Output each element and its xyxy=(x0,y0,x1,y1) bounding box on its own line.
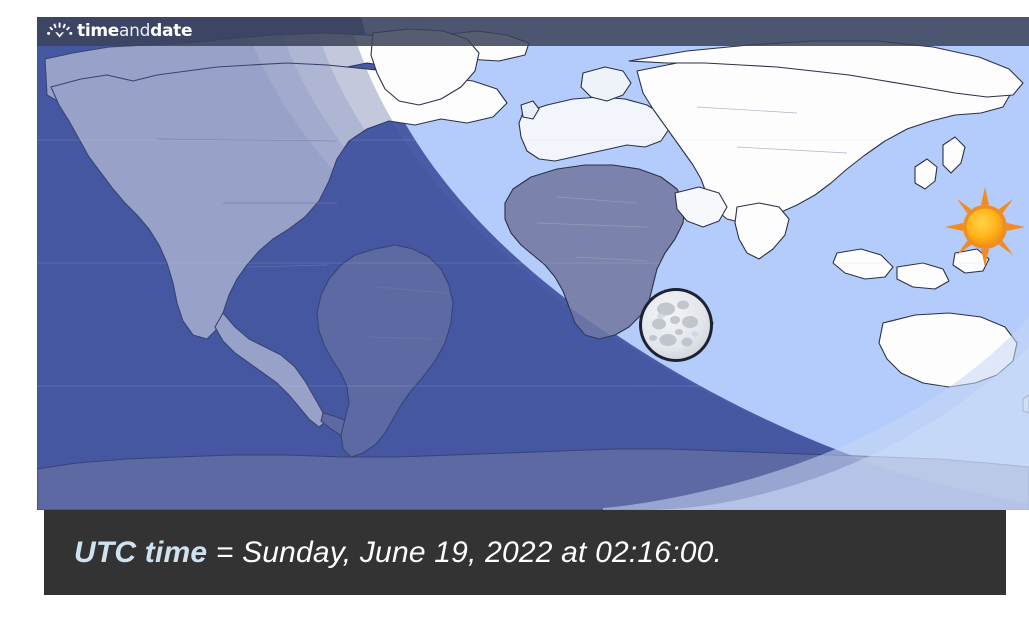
utc-time-value: = Sunday, June 19, 2022 at 02:16:00. xyxy=(207,536,722,569)
logo-text-date: date xyxy=(150,21,192,41)
world-map[interactable]: timeanddate xyxy=(37,17,1029,510)
logo-text-and: and xyxy=(119,21,150,41)
logo-bar: timeanddate xyxy=(37,17,1029,46)
logo-text-time: time xyxy=(77,21,119,41)
full-moon-icon[interactable] xyxy=(635,284,717,366)
page-root: timeanddate xyxy=(0,0,1029,624)
utc-time-label: UTC time xyxy=(74,536,207,569)
day-night-map-svg xyxy=(37,17,1029,510)
sun-rays-icon xyxy=(47,22,73,42)
sun-icon[interactable] xyxy=(943,185,1027,269)
logo-text: timeanddate xyxy=(77,23,192,40)
utc-time-caption: UTC time = Sunday, June 19, 2022 at 02:1… xyxy=(74,536,722,570)
utc-time-caption-bar: UTC time = Sunday, June 19, 2022 at 02:1… xyxy=(44,510,1006,595)
